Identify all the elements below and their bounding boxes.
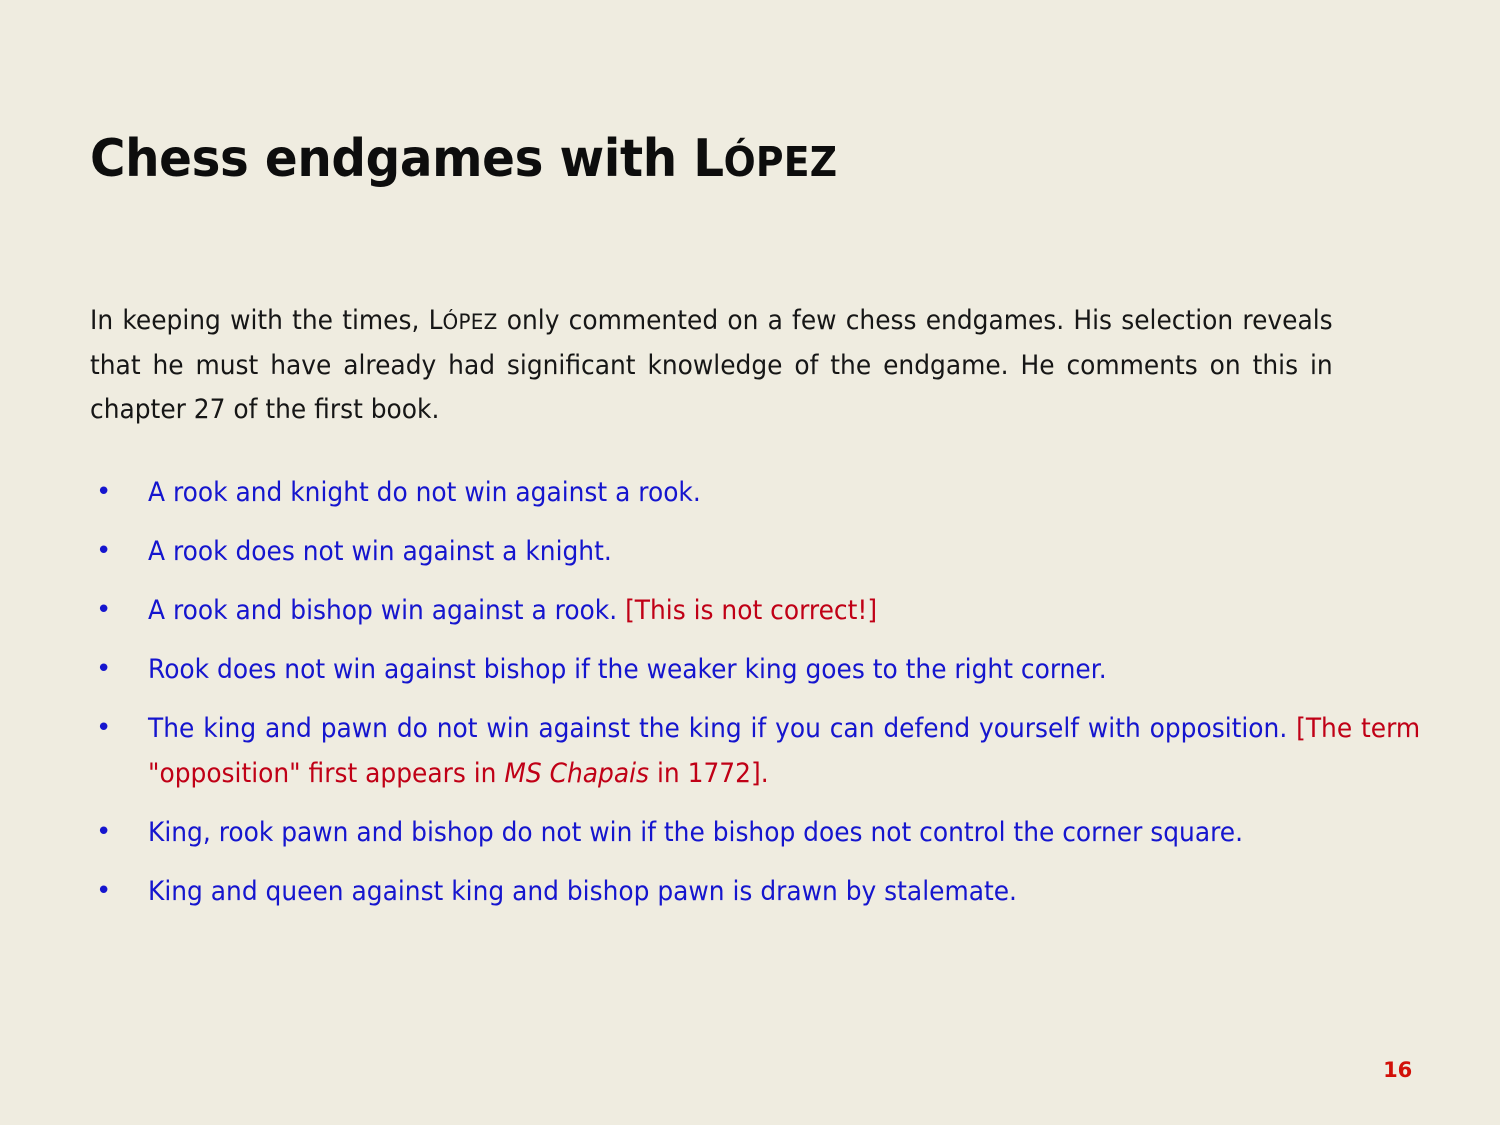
bullet-list: •A rook and knight do not win against a … (90, 470, 1420, 928)
intro-paragraph: In keeping with the times, LÓPEZ only co… (90, 299, 1333, 432)
list-item: •King and queen against king and bishop … (90, 869, 1420, 914)
page-title-smallcaps: ÓPEZ (724, 138, 838, 186)
list-item-text: King, rook pawn and bishop do not win if… (148, 810, 1420, 855)
bullet-point-icon: • (96, 810, 116, 855)
list-item: •A rook and bishop win against a rook. [… (90, 588, 1420, 633)
list-item-annotation: in 1772]. (649, 758, 769, 789)
bullet-point-icon: • (96, 588, 116, 633)
list-item-segment: Rook does not win against bishop if the … (148, 654, 1107, 685)
list-item-annotation: [This is not correct!] (625, 595, 877, 626)
bullet-point-icon: • (96, 869, 116, 914)
page-title: Chess endgames with LÓPEZ (90, 131, 1327, 188)
list-item-text: A rook does not win against a knight. (148, 529, 1420, 574)
bullet-point-icon: • (96, 529, 116, 574)
list-item-text: A rook and bishop win against a rook. [T… (148, 588, 1420, 633)
intro-part-1: In keeping with the times, L (90, 305, 442, 336)
list-item-emphasis: MS Chapais (504, 758, 649, 789)
bullet-point-icon: • (96, 706, 116, 751)
list-item-segment: A rook does not win against a knight. (148, 536, 612, 567)
list-item-segment: The king and pawn do not win against the… (148, 713, 1296, 744)
list-item: •Rook does not win against bishop if the… (90, 647, 1420, 692)
list-item-text: King and queen against king and bishop p… (148, 869, 1420, 914)
page-number: 16 (1383, 1058, 1412, 1082)
list-item-segment: King, rook pawn and bishop do not win if… (148, 817, 1243, 848)
slide-canvas: Chess endgames with LÓPEZ In keeping wit… (0, 0, 1500, 1125)
list-item-segment: A rook and bishop win against a rook. (148, 595, 625, 626)
list-item-text: A rook and knight do not win against a r… (148, 470, 1420, 515)
list-item-text: Rook does not win against bishop if the … (148, 647, 1420, 692)
list-item: •A rook and knight do not win against a … (90, 470, 1420, 515)
list-item: •A rook does not win against a knight. (90, 529, 1420, 574)
intro-lopez-smallcaps: ÓPEZ (442, 309, 497, 334)
list-item: •The king and pawn do not win against th… (90, 706, 1420, 796)
bullet-point-icon: • (96, 647, 116, 692)
list-item-text: The king and pawn do not win against the… (148, 706, 1420, 796)
page-title-lead: Chess endgames with L (90, 129, 724, 189)
list-item-segment: King and queen against king and bishop p… (148, 876, 1017, 907)
bullet-point-icon: • (96, 470, 116, 515)
list-item-segment: A rook and knight do not win against a r… (148, 477, 701, 508)
list-item: •King, rook pawn and bishop do not win i… (90, 810, 1420, 855)
